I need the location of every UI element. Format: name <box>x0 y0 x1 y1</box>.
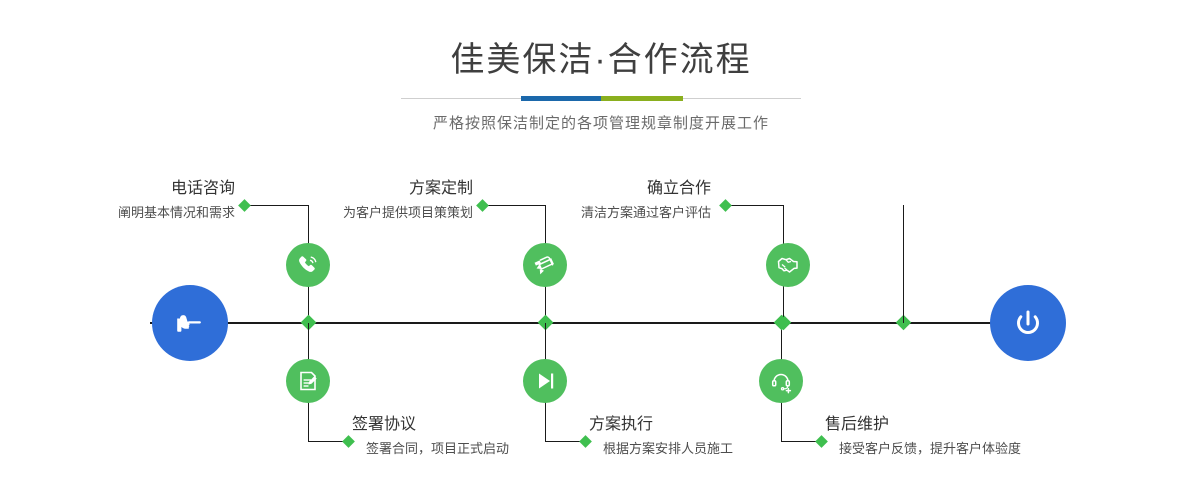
step-desc-2: 签署合同，项目正式启动 <box>366 439 509 459</box>
flow-start-node[interactable] <box>152 285 228 361</box>
title-divider <box>401 96 801 101</box>
step-desc-4: 根据方案安排人员施工 <box>603 439 733 459</box>
step-node-4[interactable] <box>523 359 567 403</box>
step-desc-1: 阐明基本情况和需求 <box>95 203 235 223</box>
flow-end-node[interactable] <box>990 285 1066 361</box>
step-node-3[interactable] <box>523 243 567 287</box>
timeline-axis <box>150 322 1052 324</box>
handshake-icon <box>775 252 801 278</box>
connector-vline-6 <box>903 205 904 323</box>
connector-hline-3 <box>483 205 546 206</box>
step-label-2: 签署协议 签署合同，项目正式启动 <box>352 415 509 459</box>
divider-segment-blue <box>521 96 601 101</box>
connector-hline-5 <box>726 205 784 206</box>
step-label-3: 方案定制 为客户提供项目策策划 <box>333 179 473 223</box>
page-header: 佳美保洁·合作流程 严格按照保洁制定的各项管理规章制度开展工作 <box>0 0 1202 133</box>
page-subtitle: 严格按照保洁制定的各项管理规章制度开展工作 <box>0 112 1202 133</box>
connector-tip-5 <box>719 199 732 212</box>
step-title-5: 确立合作 <box>571 179 711 199</box>
page-title: 佳美保洁·合作流程 <box>0 38 1202 82</box>
pointing-hand-icon <box>168 301 212 345</box>
timeline-marker-6b <box>774 315 790 331</box>
step-title-4: 方案执行 <box>589 415 733 435</box>
step-title-6: 售后维护 <box>825 415 1021 435</box>
connector-hline-1 <box>245 205 309 206</box>
connector-tip-3 <box>476 199 489 212</box>
step-desc-3: 为客户提供项目策策划 <box>333 203 473 223</box>
divider-segment-green <box>601 96 683 101</box>
play-execute-icon <box>532 368 558 394</box>
headset-support-icon <box>768 368 794 394</box>
step-label-6: 售后维护 接受客户反馈，提升客户体验度 <box>825 415 1021 459</box>
step-desc-6: 接受客户反馈，提升客户体验度 <box>839 439 1021 459</box>
step-title-3: 方案定制 <box>333 179 473 199</box>
step-label-5: 确立合作 清洁方案通过客户评估 <box>571 179 711 223</box>
process-flow-diagram: 电话咨询 阐明基本情况和需求 签署协议 签署合同，项目正式启动 <box>0 155 1202 502</box>
pencil-ruler-icon <box>532 252 558 278</box>
phone-call-icon <box>295 252 321 278</box>
step-label-4: 方案执行 根据方案安排人员施工 <box>589 415 733 459</box>
step-node-5[interactable] <box>766 243 810 287</box>
step-desc-5: 清洁方案通过客户评估 <box>571 203 711 223</box>
step-title-1: 电话咨询 <box>95 179 235 199</box>
connector-tip-1 <box>238 199 251 212</box>
step-node-6[interactable] <box>759 359 803 403</box>
power-icon <box>1006 301 1050 345</box>
step-node-1[interactable] <box>286 243 330 287</box>
step-node-2[interactable] <box>286 359 330 403</box>
document-sign-icon <box>295 368 321 394</box>
step-title-2: 签署协议 <box>352 415 509 435</box>
step-label-1: 电话咨询 阐明基本情况和需求 <box>95 179 235 223</box>
